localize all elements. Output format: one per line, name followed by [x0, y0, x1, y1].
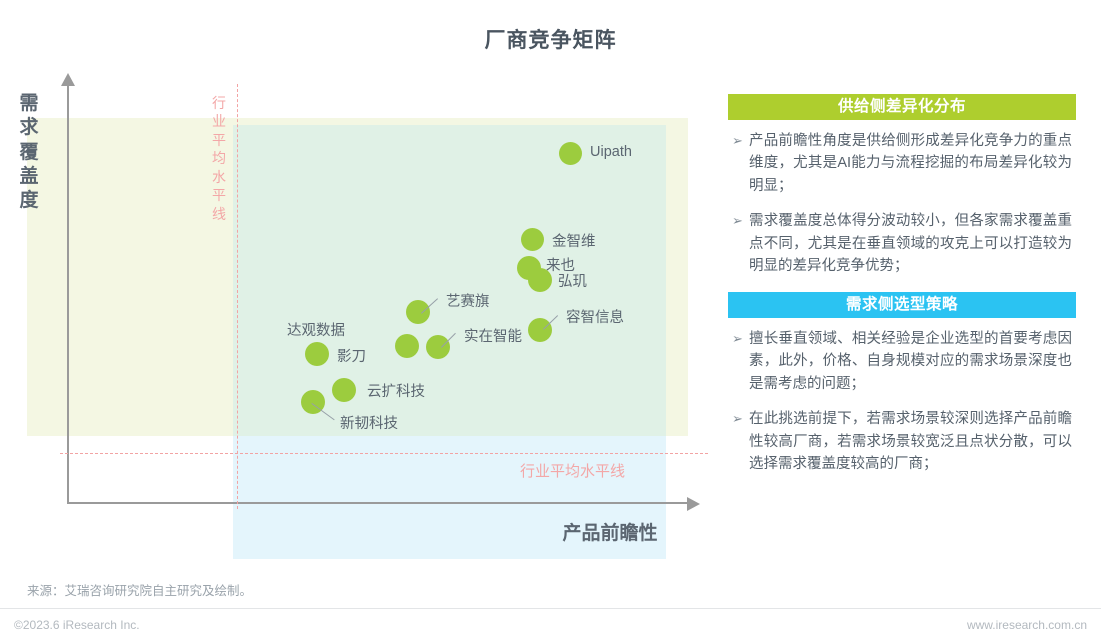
- bubble-daguan[interactable]: [395, 334, 419, 358]
- bullet-text: 产品前瞻性角度是供给侧形成差异化竞争力的重点维度，尤其是AI能力与流程挖掘的布局…: [749, 130, 1072, 197]
- panel-demand-side-body: ➢ 擅长垂直领域、相关经验是企业选型的首要考虑因素，此外，价格、自身规模对应的需…: [728, 318, 1076, 476]
- copyright-text: ©2023.6 iResearch Inc.: [14, 618, 140, 632]
- point-label-jinzhiwei: 金智维: [552, 230, 596, 251]
- bubble-yunkuo[interactable]: [332, 378, 356, 402]
- x-axis-title: 产品前瞻性: [500, 518, 720, 545]
- arrow-bullet-icon: ➢: [732, 408, 749, 429]
- bullet-text: 需求覆盖度总体得分波动较小，但各家需求覆盖重点不同，尤其是在垂直领域的攻克上可以…: [749, 210, 1072, 277]
- bubble-uipath[interactable]: [559, 142, 582, 165]
- bullet-item: ➢ 擅长垂直领域、相关经验是企业选型的首要考虑因素，此外，价格、自身规模对应的需…: [732, 328, 1072, 395]
- bullet-item: ➢ 需求覆盖度总体得分波动较小，但各家需求覆盖重点不同，尤其是在垂直领域的攻克上…: [732, 210, 1072, 277]
- page-title: 厂商竞争矩阵: [0, 24, 1101, 54]
- point-label-shizai: 实在智能: [464, 325, 522, 346]
- source-note: 来源：艾瑞咨询研究院自主研究及绘制。: [27, 580, 252, 599]
- footer-divider: [0, 608, 1101, 609]
- point-label-xinren: 新韧科技: [340, 412, 398, 433]
- arrow-bullet-icon: ➢: [732, 328, 749, 349]
- point-label-daguan: 达观数据: [287, 319, 345, 340]
- point-label-rongzhi: 容智信息: [566, 306, 624, 327]
- panel-demand-side: 需求侧选型策略 ➢ 擅长垂直领域、相关经验是企业选型的首要考虑因素，此外，价格、…: [728, 292, 1076, 476]
- horizontal-average-line: [60, 453, 708, 454]
- point-label-hongji: 弘玑: [558, 270, 587, 291]
- y-axis-arrow-icon: [61, 73, 75, 86]
- insight-panels: 供给侧差异化分布 ➢ 产品前瞻性角度是供给侧形成差异化竞争力的重点维度，尤其是A…: [728, 94, 1076, 490]
- point-label-yunkuo: 云扩科技: [367, 380, 425, 401]
- panel-supply-side-body: ➢ 产品前瞻性角度是供给侧形成差异化竞争力的重点维度，尤其是AI能力与流程挖掘的…: [728, 120, 1076, 278]
- point-label-yingdao: 影刀: [337, 345, 366, 366]
- y-axis-line: [67, 84, 69, 504]
- arrow-bullet-icon: ➢: [732, 130, 749, 151]
- bullet-text: 在此挑选前提下，若需求场景较深则选择产品前瞻性较高厂商，若需求场景较宽泛且点状分…: [749, 408, 1072, 475]
- arrow-bullet-icon: ➢: [732, 210, 749, 231]
- point-label-uipath: Uipath: [590, 144, 632, 160]
- panel-demand-side-header: 需求侧选型策略: [728, 292, 1076, 318]
- vertical-average-line: [237, 84, 238, 509]
- bubble-shizai[interactable]: [426, 335, 450, 359]
- competition-matrix-chart: 需求覆盖度 产品前瞻性 行业平均水平线 行业平均水平线 Uipath 金智维 来…: [0, 70, 720, 560]
- horizontal-average-line-label: 行业平均水平线: [520, 460, 625, 481]
- bubble-yingdao[interactable]: [305, 342, 329, 366]
- panel-supply-side: 供给侧差异化分布 ➢ 产品前瞻性角度是供给侧形成差异化竞争力的重点维度，尤其是A…: [728, 94, 1076, 278]
- x-axis-arrow-icon: [687, 497, 700, 511]
- bullet-item: ➢ 产品前瞻性角度是供给侧形成差异化竞争力的重点维度，尤其是AI能力与流程挖掘的…: [732, 130, 1072, 197]
- quadrant-band-inner: [233, 125, 666, 436]
- vertical-average-line-label: 行业平均水平线: [208, 94, 230, 223]
- bullet-text: 擅长垂直领域、相关经验是企业选型的首要考虑因素，此外，价格、自身规模对应的需求场…: [749, 328, 1072, 395]
- point-label-yisaiqi: 艺赛旗: [446, 290, 490, 311]
- bubble-rongzhi[interactable]: [528, 318, 552, 342]
- panel-supply-side-header: 供给侧差异化分布: [728, 94, 1076, 120]
- x-axis-line: [67, 502, 689, 504]
- bubble-jinzhiwei[interactable]: [521, 228, 544, 251]
- y-axis-title: 需求覆盖度: [14, 92, 44, 214]
- bullet-item: ➢ 在此挑选前提下，若需求场景较深则选择产品前瞻性较高厂商，若需求场景较宽泛且点…: [732, 408, 1072, 475]
- bubble-yisaiqi[interactable]: [406, 300, 430, 324]
- website-link[interactable]: www.iresearch.com.cn: [967, 618, 1087, 632]
